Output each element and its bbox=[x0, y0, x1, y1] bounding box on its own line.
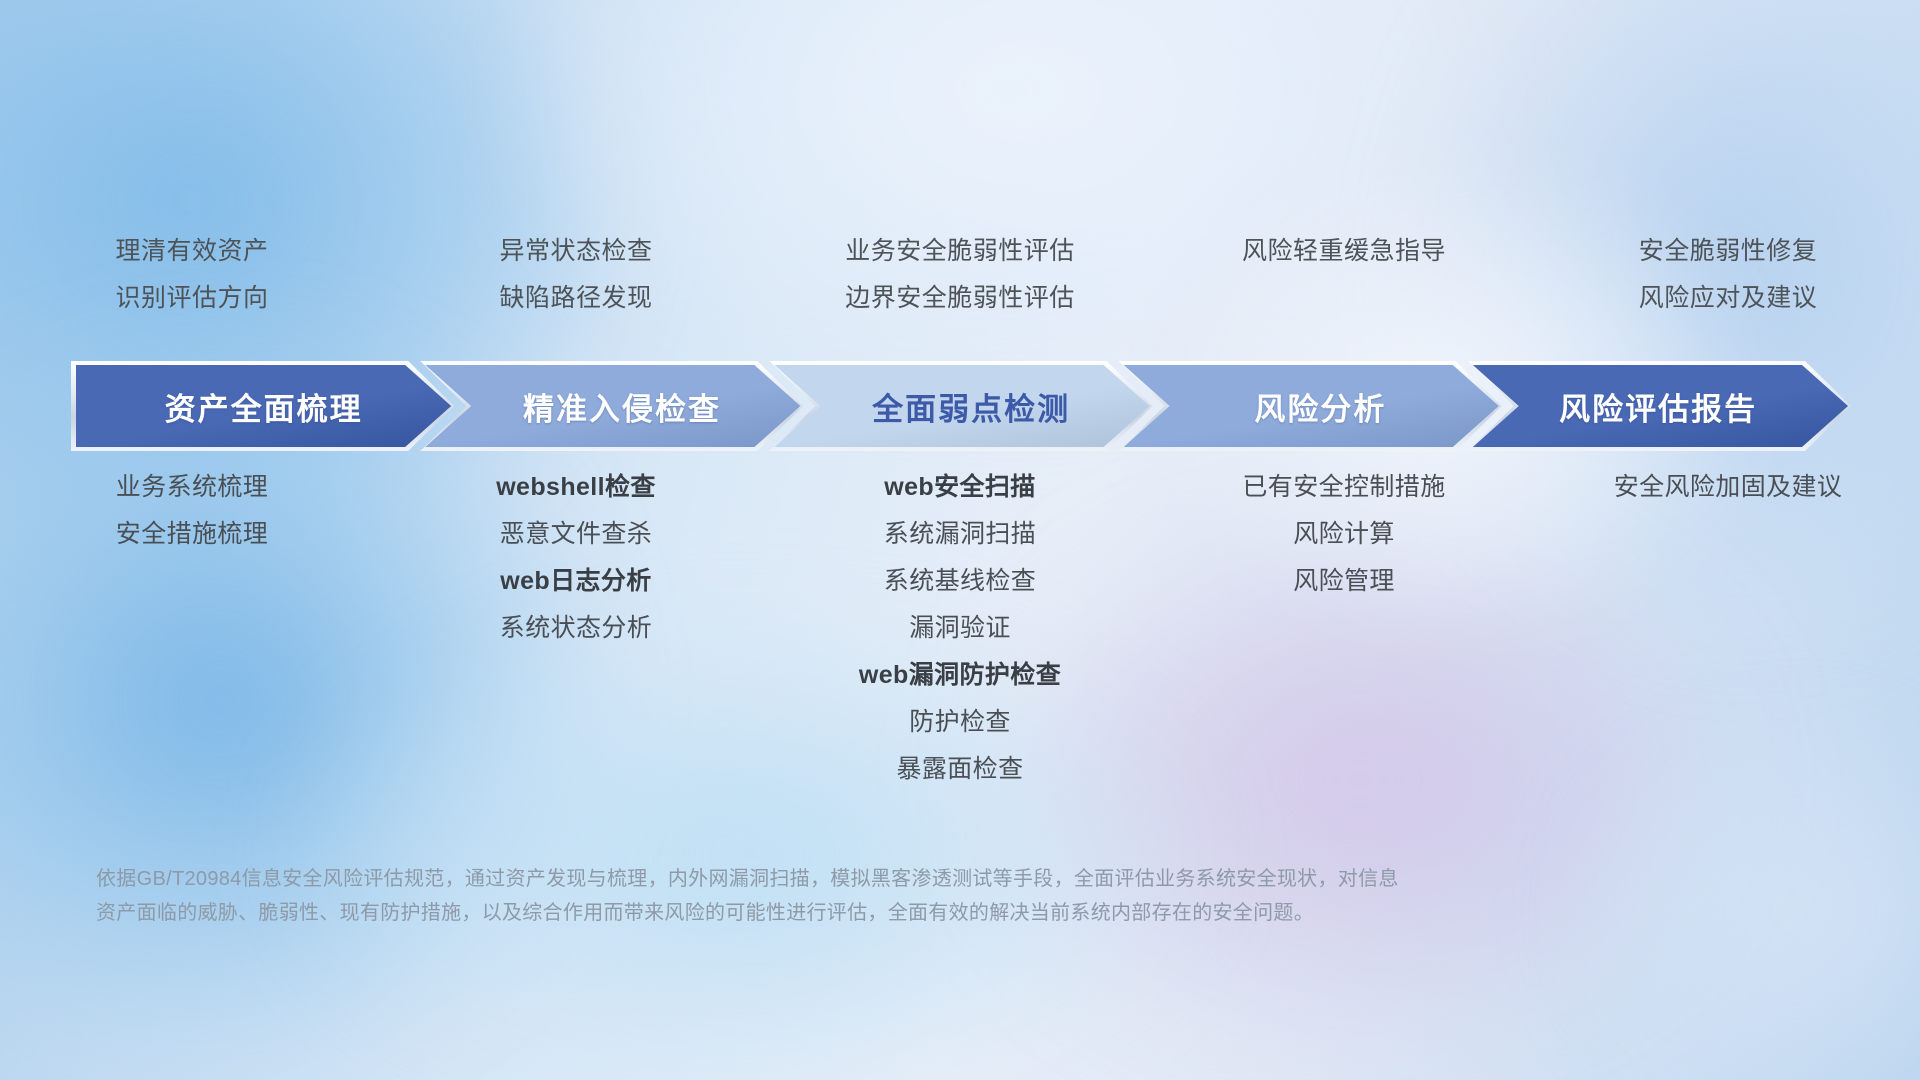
top-descriptor-col-4: 风险轻重缓急指导 bbox=[1152, 228, 1536, 275]
top-descriptor-col-5: 风险应对及建议 bbox=[1536, 275, 1920, 322]
bottom-list-item: 安全风险加固及建议 bbox=[1614, 464, 1843, 511]
bottom-list-item: web安全扫描 bbox=[884, 464, 1035, 511]
footer-description: 依据GB/T20984信息安全风险评估规范，通过资产发现与梳理，内外网漏洞扫描，… bbox=[96, 862, 1596, 930]
bottom-list-item: 风险计算 bbox=[1293, 511, 1395, 558]
bottom-list-item: 风险管理 bbox=[1293, 558, 1395, 605]
bottom-list-item: 系统基线检查 bbox=[884, 558, 1036, 605]
bottom-list-item: 恶意文件查杀 bbox=[500, 511, 652, 558]
chevron-label-1: 资产全面梳理 bbox=[76, 384, 451, 429]
chevron-label-2: 精准入侵检查 bbox=[425, 384, 800, 429]
chevron-band: 资产全面梳理精准入侵检查全面弱点检测风险分析风险评估报告 bbox=[76, 365, 1848, 447]
bottom-list-item: 业务系统梳理 bbox=[116, 464, 268, 511]
bottom-list-item: web漏洞防护检查 bbox=[859, 652, 1061, 699]
bottom-list-col-4: 已有安全控制措施风险计算风险管理 bbox=[1152, 450, 1536, 793]
bottom-list-col-3: web安全扫描系统漏洞扫描系统基线检查漏洞验证web漏洞防护检查防护检查暴露面检… bbox=[768, 450, 1152, 793]
top-descriptor-col-5: 安全脆弱性修复 bbox=[1536, 228, 1920, 275]
top-descriptor-text: 缺陷路径发现 bbox=[499, 275, 652, 322]
bottom-detail-lists: 业务系统梳理安全措施梳理webshell检查恶意文件查杀web日志分析系统状态分… bbox=[0, 450, 1920, 793]
bottom-list-item: 防护检查 bbox=[909, 699, 1011, 746]
top-descriptor-text: 异常状态检查 bbox=[499, 228, 652, 275]
bottom-list-item: 系统漏洞扫描 bbox=[884, 511, 1036, 558]
chevron-label-5: 风险评估报告 bbox=[1473, 384, 1848, 429]
top-descriptor-col-1: 理清有效资产 bbox=[0, 228, 384, 275]
chevron-stage-3[interactable]: 全面弱点检测 bbox=[774, 365, 1149, 447]
bottom-list-item: 系统状态分析 bbox=[500, 605, 652, 652]
top-descriptor-text: 风险应对及建议 bbox=[1639, 275, 1818, 322]
top-descriptor-col-2: 缺陷路径发现 bbox=[384, 275, 768, 322]
bottom-list-item: 安全措施梳理 bbox=[116, 511, 268, 558]
top-descriptor-row-1: 理清有效资产异常状态检查业务安全脆弱性评估风险轻重缓急指导安全脆弱性修复 bbox=[0, 228, 1920, 275]
bottom-list-item: webshell检查 bbox=[496, 464, 656, 511]
footer-line-2: 资产面临的威胁、脆弱性、现有防护措施，以及综合作用而带来风险的可能性进行评估，全… bbox=[96, 896, 1596, 930]
top-descriptor-col-2: 异常状态检查 bbox=[384, 228, 768, 275]
bottom-list-col-5: 安全风险加固及建议 bbox=[1536, 450, 1920, 793]
top-descriptor-text: 边界安全脆弱性评估 bbox=[845, 275, 1075, 322]
bottom-list-col-2: webshell检查恶意文件查杀web日志分析系统状态分析 bbox=[384, 450, 768, 793]
top-descriptor-col-3: 边界安全脆弱性评估 bbox=[768, 275, 1152, 322]
top-descriptor-text: 安全脆弱性修复 bbox=[1639, 228, 1818, 275]
chevron-stage-5[interactable]: 风险评估报告 bbox=[1473, 365, 1848, 447]
top-descriptor-col-1: 识别评估方向 bbox=[0, 275, 384, 322]
process-diagram: 理清有效资产异常状态检查业务安全脆弱性评估风险轻重缓急指导安全脆弱性修复 识别评… bbox=[0, 0, 1920, 1080]
top-descriptor-col-3: 业务安全脆弱性评估 bbox=[768, 228, 1152, 275]
bottom-list-item: 漏洞验证 bbox=[909, 605, 1011, 652]
top-descriptor-text: 业务安全脆弱性评估 bbox=[845, 228, 1075, 275]
bottom-list-item: 已有安全控制措施 bbox=[1242, 464, 1445, 511]
chevron-label-4: 风险分析 bbox=[1124, 384, 1499, 429]
top-descriptor-text: 理清有效资产 bbox=[115, 228, 268, 275]
chevron-stage-4[interactable]: 风险分析 bbox=[1124, 365, 1499, 447]
bottom-list-item: web日志分析 bbox=[500, 558, 651, 605]
top-descriptor-text: 风险轻重缓急指导 bbox=[1242, 228, 1446, 275]
top-descriptor-row-2: 识别评估方向缺陷路径发现边界安全脆弱性评估风险应对及建议 bbox=[0, 275, 1920, 322]
bottom-list-col-1: 业务系统梳理安全措施梳理 bbox=[0, 450, 384, 793]
bottom-list-item: 暴露面检查 bbox=[896, 746, 1023, 793]
top-descriptor-text: 识别评估方向 bbox=[115, 275, 268, 322]
chevron-stage-2[interactable]: 精准入侵检查 bbox=[425, 365, 800, 447]
chevron-label-3: 全面弱点检测 bbox=[774, 384, 1149, 429]
chevron-stage-1[interactable]: 资产全面梳理 bbox=[76, 365, 451, 447]
footer-line-1: 依据GB/T20984信息安全风险评估规范，通过资产发现与梳理，内外网漏洞扫描，… bbox=[96, 862, 1596, 896]
top-descriptor-col-4 bbox=[1152, 275, 1536, 322]
